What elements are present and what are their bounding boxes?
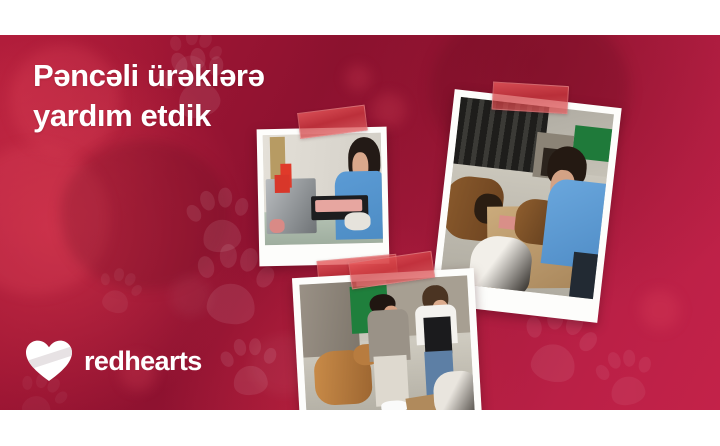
photo-petting-image	[299, 275, 474, 410]
logo-wordmark: redhearts	[84, 346, 202, 377]
heart-icon	[26, 340, 72, 382]
photo-grinder	[257, 127, 390, 267]
photo-grinder-image	[263, 133, 383, 245]
banner-root: Pəncəli ürəklərə yardım etdik	[0, 0, 720, 446]
bottom-white-margin	[0, 410, 720, 446]
logo[interactable]: redhearts	[26, 340, 202, 382]
top-white-margin	[0, 0, 720, 35]
tape-strip	[491, 81, 569, 114]
photo-petting	[292, 268, 482, 410]
